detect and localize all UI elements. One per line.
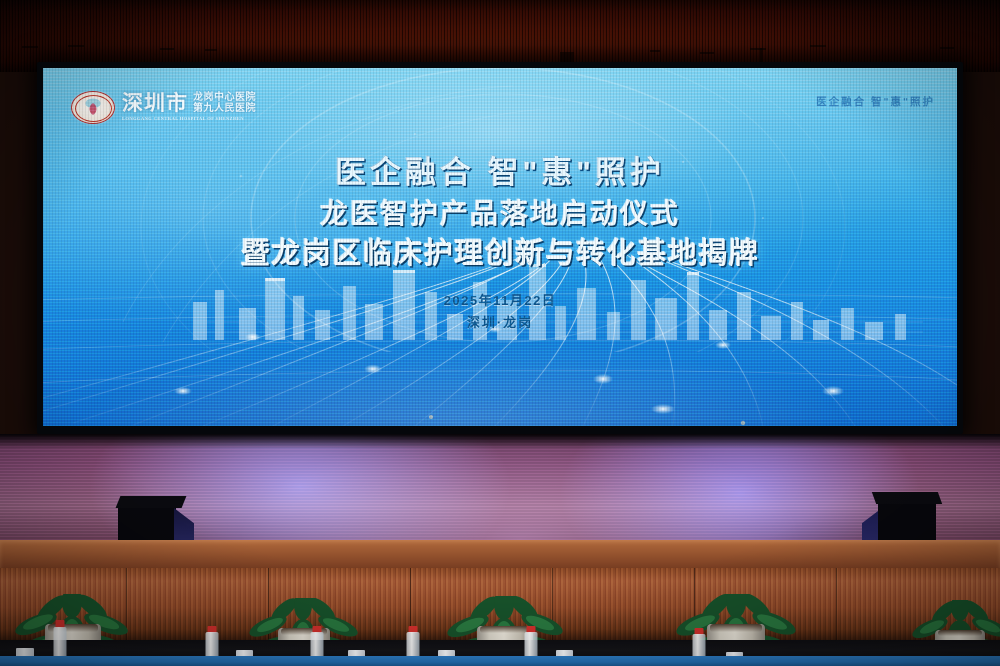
hospital-seal-icon [71, 91, 115, 124]
screen-headline: 医企融合 智"惠"照护 龙医智护产品落地启动仪式 暨龙岗区临床护理创新与转化基地… [43, 152, 957, 274]
screen-subtitle: 2025年11月22日 深圳·龙岗 [43, 290, 957, 331]
event-location: 深圳·龙岗 [43, 312, 957, 331]
headline-line-2: 龙医智护产品落地启动仪式 [43, 194, 957, 234]
headline-line-3: 暨龙岗区临床护理创新与转化基地揭牌 [43, 234, 957, 274]
led-screen-bezel: 深圳市 龙岗中心医院 第九人民医院 LONGGANG CENTRAL HOSPI… [37, 62, 963, 434]
screen-corner-slogan: 医企融合 智"惠"照护 [816, 94, 935, 109]
hospital-logo: 深圳市 龙岗中心医院 第九人民医院 LONGGANG CENTRAL HOSPI… [71, 91, 256, 124]
led-screen: 深圳市 龙岗中心医院 第九人民医院 LONGGANG CENTRAL HOSPI… [43, 68, 957, 426]
logo-english-name: LONGGANG CENTRAL HOSPITAL OF SHENZHEN [122, 115, 256, 122]
scene-root: 深圳市 龙岗中心医院 第九人民医院 LONGGANG CENTRAL HOSPI… [0, 0, 1000, 666]
headline-line-1: 医企融合 智"惠"照护 [43, 152, 957, 194]
event-date: 2025年11月22日 [43, 290, 957, 309]
screen-drop-shadow [0, 434, 1000, 448]
logo-hospital-line-1: 龙岗中心医院 [193, 93, 256, 104]
logo-city-name: 深圳市 [122, 93, 188, 114]
table-cloth [0, 656, 1000, 666]
hospital-logo-text: 深圳市 龙岗中心医院 第九人民医院 LONGGANG CENTRAL HOSPI… [122, 93, 256, 122]
logo-hospital-line-2: 第九人民医院 [193, 104, 256, 115]
